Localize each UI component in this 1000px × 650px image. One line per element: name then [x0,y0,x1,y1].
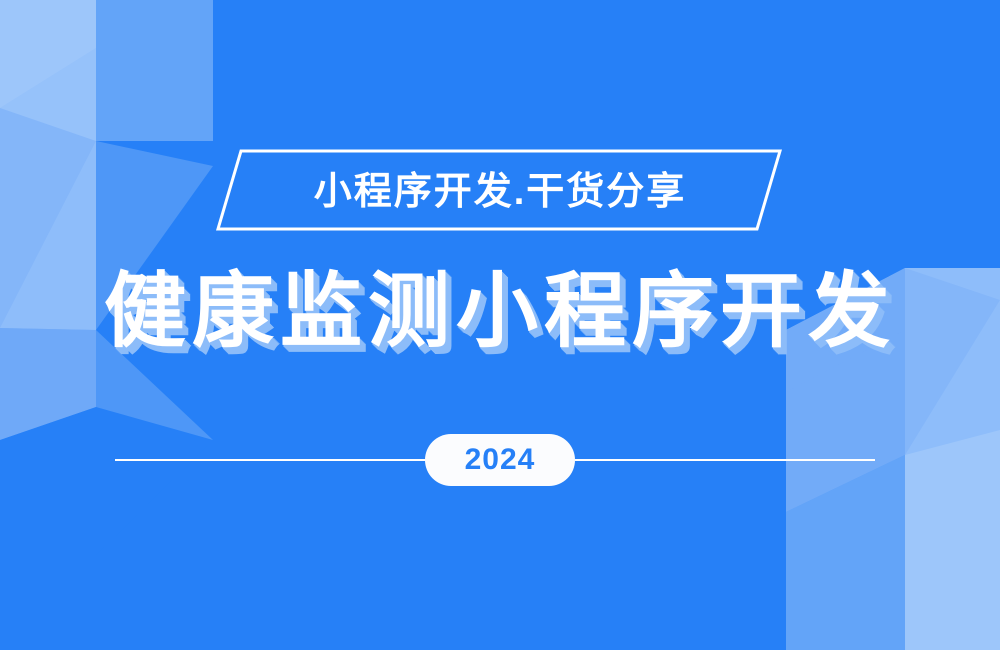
year-badge: 2024 [425,434,575,486]
left-medium-column-top [96,0,213,141]
promo-banner: 小程序开发.干货分享 健康监测小程序开发 2024 [0,0,1000,650]
banner-title: 健康监测小程序开发 [0,262,1000,362]
banner-subtitle: 小程序开发.干货分享 [0,150,1000,234]
divider-line-left [115,459,425,461]
right-base-fill [700,330,786,650]
divider-line-right [575,459,875,461]
year-row: 2024 [0,434,1000,486]
